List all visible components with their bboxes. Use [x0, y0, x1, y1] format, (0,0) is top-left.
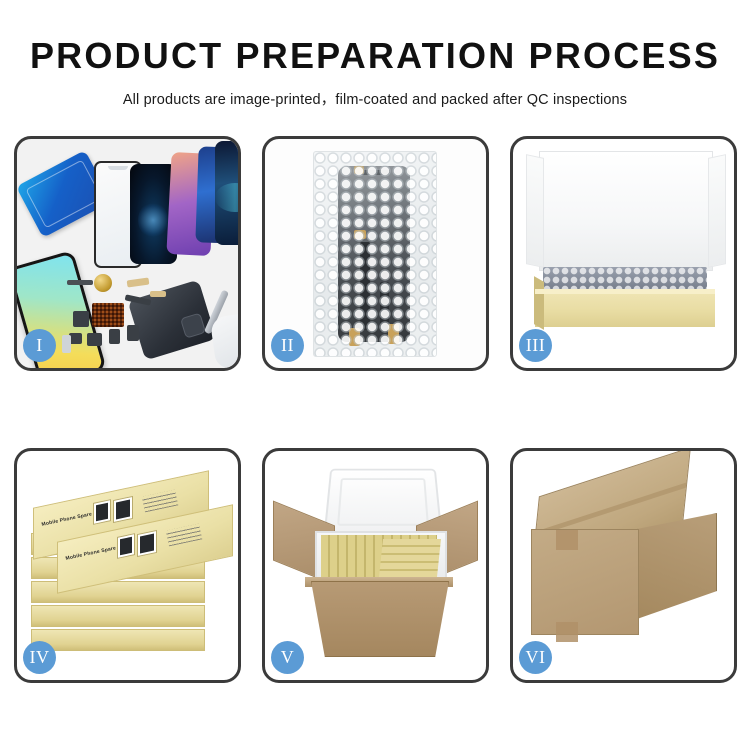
kraft-inner-box: [535, 289, 715, 327]
packed-boxes-row-2: [379, 539, 441, 577]
process-step-grid: I II: [14, 136, 736, 683]
stacked-box-edge-1: [31, 629, 205, 651]
step-panel-4: Mobile Phone Spare Parts Mobile Phone Sp…: [14, 448, 241, 683]
small-chip-1: [67, 280, 93, 285]
step-badge-2: II: [271, 329, 304, 362]
stacked-box-edge-2: [31, 605, 205, 627]
step-badge-6: VI: [519, 641, 552, 674]
step-panel-6: VI: [510, 448, 737, 683]
header: PRODUCT PREPARATION PROCESS All products…: [0, 0, 750, 109]
sim-tray: [62, 335, 71, 353]
small-part-3: [87, 333, 102, 346]
flex-cable-1: [127, 278, 150, 288]
carton-front-face: [531, 529, 639, 635]
small-part-1: [73, 311, 89, 327]
bubble-wrap-bag: [313, 151, 437, 357]
bubble-texture: [314, 152, 436, 356]
box-window-3: [117, 533, 135, 559]
small-part-5: [127, 325, 139, 341]
tape-strip-top: [556, 530, 578, 550]
box-window-1: [93, 499, 111, 525]
step-badge-3: III: [519, 329, 552, 362]
step-panel-5: V: [262, 448, 489, 683]
gold-coil-part: [94, 274, 112, 292]
page-subtitle: All products are image-printed，film-coat…: [0, 88, 750, 109]
teal-phone-screen: [215, 141, 238, 245]
copper-pad-grid: [92, 303, 124, 327]
box-stack: Mobile Phone Spare Parts Mobile Phone Sp…: [31, 479, 227, 651]
step-panel-3: III: [510, 136, 737, 371]
step-panel-2: II: [262, 136, 489, 371]
step-badge-1: I: [23, 329, 56, 362]
step-badge-4: IV: [23, 641, 56, 674]
phone-back-housing: [128, 280, 217, 361]
carton-side-face: [637, 513, 717, 619]
box-lip: [535, 289, 715, 294]
camera-lens-icon: [180, 312, 206, 338]
step-panel-1: I: [14, 136, 241, 371]
page-title: PRODUCT PREPARATION PROCESS: [0, 38, 750, 74]
step-badge-5: V: [271, 641, 304, 674]
white-box-lid: [539, 151, 713, 271]
product-preparation-infographic: PRODUCT PREPARATION PROCESS All products…: [0, 0, 750, 750]
small-part-4: [109, 329, 120, 344]
box-window-4: [137, 530, 157, 557]
tape-strip-bottom: [556, 622, 578, 642]
flex-cable-2: [150, 291, 166, 297]
box-window-2: [113, 496, 133, 523]
carton-body: [311, 581, 449, 657]
